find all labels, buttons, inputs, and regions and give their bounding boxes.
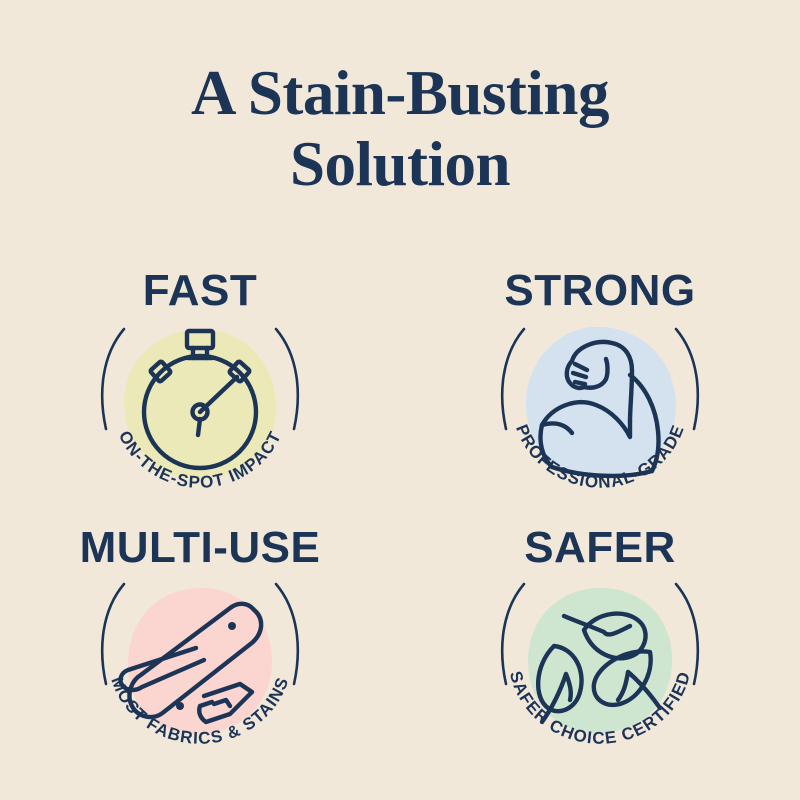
badge-emblem-safer: SAFER CHOICE CERTIFIED — [480, 574, 720, 759]
benefit-badge-multi-use[interactable]: MULTI-USE — [45, 526, 355, 761]
poster-canvas: A Stain-Busting Solution FAST — [0, 0, 800, 800]
badge-emblem-fast: ON-THE-SPOT IMPACT — [80, 317, 320, 502]
benefit-badge-strong[interactable]: STRONG — [445, 269, 755, 504]
badge-title-safer: SAFER — [524, 526, 676, 570]
badge-title-fast: FAST — [143, 269, 257, 313]
badge-title-strong: STRONG — [504, 269, 695, 313]
badge-emblem-strong: PROFESSIONAL-GRADE — [480, 317, 720, 502]
badge-arc-left — [502, 584, 524, 684]
badge-title-multi-use: MULTI-USE — [80, 526, 321, 570]
badge-arc-left — [102, 584, 124, 684]
badge-arc-left — [502, 329, 524, 429]
badge-arc-right — [276, 584, 298, 684]
badge-arc-right — [276, 329, 298, 429]
badge-emblem-multi-use: MOST FABRICS & STAINS — [80, 574, 320, 759]
benefit-badge-fast[interactable]: FAST — [45, 269, 355, 504]
page-title-line-2: Solution — [50, 129, 750, 200]
benefit-badge-safer[interactable]: SAFER — [445, 526, 755, 761]
badge-arc-left — [102, 329, 124, 429]
badge-arc-right — [676, 584, 698, 684]
page-title: A Stain-Busting Solution — [50, 58, 750, 199]
benefit-badge-grid: FAST — [0, 269, 800, 761]
badge-arc-right — [676, 329, 698, 429]
page-title-line-1: A Stain-Busting — [50, 58, 750, 129]
